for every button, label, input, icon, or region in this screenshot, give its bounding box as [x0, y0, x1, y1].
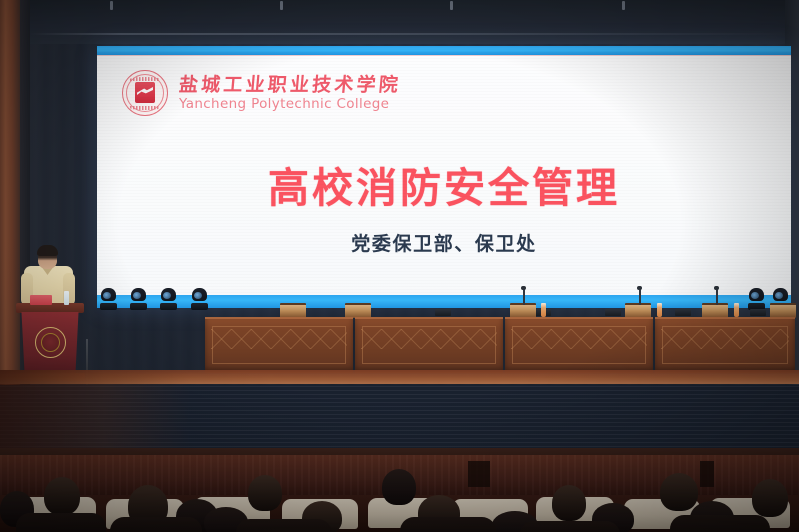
- slide-title: 高校消防安全管理: [97, 154, 791, 214]
- audience-head: [552, 485, 586, 521]
- table-name-card: [770, 303, 796, 318]
- speaker-hair: [37, 245, 58, 256]
- water-bottle: [734, 303, 739, 317]
- conference-table: [505, 317, 653, 373]
- table-name-card: [510, 303, 536, 318]
- table-equipment-box: [675, 309, 691, 316]
- moving-head-light-icon: [100, 288, 117, 310]
- seal-arc-bottom: [130, 106, 160, 110]
- audience-area: [0, 455, 799, 532]
- water-bottle: [657, 303, 662, 317]
- audience-shoulders: [520, 521, 620, 532]
- ceiling-fixture-icon: [622, 1, 625, 10]
- microphone-stem: [523, 289, 525, 305]
- ceiling-fixture-icon: [280, 1, 283, 10]
- school-seal-icon: [122, 70, 168, 116]
- audience-shoulders: [16, 513, 106, 532]
- audience-head: [660, 473, 698, 511]
- moving-head-light-icon: [160, 288, 177, 310]
- table-name-card: [702, 303, 728, 318]
- table-equipment-box: [605, 309, 621, 316]
- auditorium-photo: 盐城工业职业技术学院 Yancheng Polytechnic College …: [0, 0, 799, 532]
- audience-shoulders: [400, 517, 496, 532]
- audience-head: [248, 475, 282, 511]
- moving-head-light-icon: [130, 288, 147, 310]
- seal-arc-top: [130, 77, 160, 81]
- school-name-block: 盐城工业职业技术学院 Yancheng Polytechnic College: [179, 74, 401, 113]
- microphone-stem: [716, 289, 718, 305]
- audience-head: [382, 469, 416, 505]
- microphone-head-icon: [521, 286, 526, 290]
- audience-head: [752, 479, 788, 517]
- table-name-card: [345, 303, 371, 318]
- audience-shoulders: [110, 517, 202, 532]
- microphone-stem: [639, 289, 641, 305]
- slide-subtitle: 党委保卫部、保卫处: [97, 229, 791, 256]
- conference-table: [205, 317, 353, 373]
- lighting-truss: [30, 33, 790, 35]
- table-name-card: [625, 303, 651, 318]
- audience-shoulders: [670, 515, 770, 532]
- ceiling-fixture-icon: [110, 1, 113, 10]
- podium-name-card: [30, 295, 52, 305]
- floor-left-shadow: [0, 370, 190, 456]
- school-name-cn: 盐城工业职业技术学院: [178, 74, 402, 96]
- conference-table: [355, 317, 503, 373]
- conference-table-row: [205, 301, 795, 371]
- projection-screen: 盐城工业职业技术学院 Yancheng Polytechnic College …: [97, 46, 791, 308]
- water-bottle: [541, 303, 546, 317]
- wall-dark-panel: [468, 461, 490, 487]
- table-equipment-box: [750, 309, 766, 316]
- audience-head: [44, 477, 80, 515]
- ceiling-fixture-icon: [450, 1, 453, 10]
- conference-table: [655, 317, 795, 373]
- microphone-head-icon: [714, 286, 719, 290]
- table-name-card: [280, 303, 306, 318]
- podium-water-bottle: [64, 291, 69, 305]
- microphone-head-icon: [637, 286, 642, 290]
- table-equipment-box: [435, 309, 451, 316]
- school-name-en: Yancheng Polytechnic College: [179, 97, 401, 113]
- slide-logo-header: 盐城工业职业技术学院 Yancheng Polytechnic College: [122, 70, 401, 116]
- audience-shoulders: [236, 519, 332, 532]
- slide-top-hairline: [97, 55, 791, 56]
- wall-dark-panel: [700, 461, 714, 487]
- ceiling: [0, 0, 799, 44]
- slide-top-accent-bar: [97, 46, 791, 55]
- podium-crest-emblem-icon: [35, 327, 66, 358]
